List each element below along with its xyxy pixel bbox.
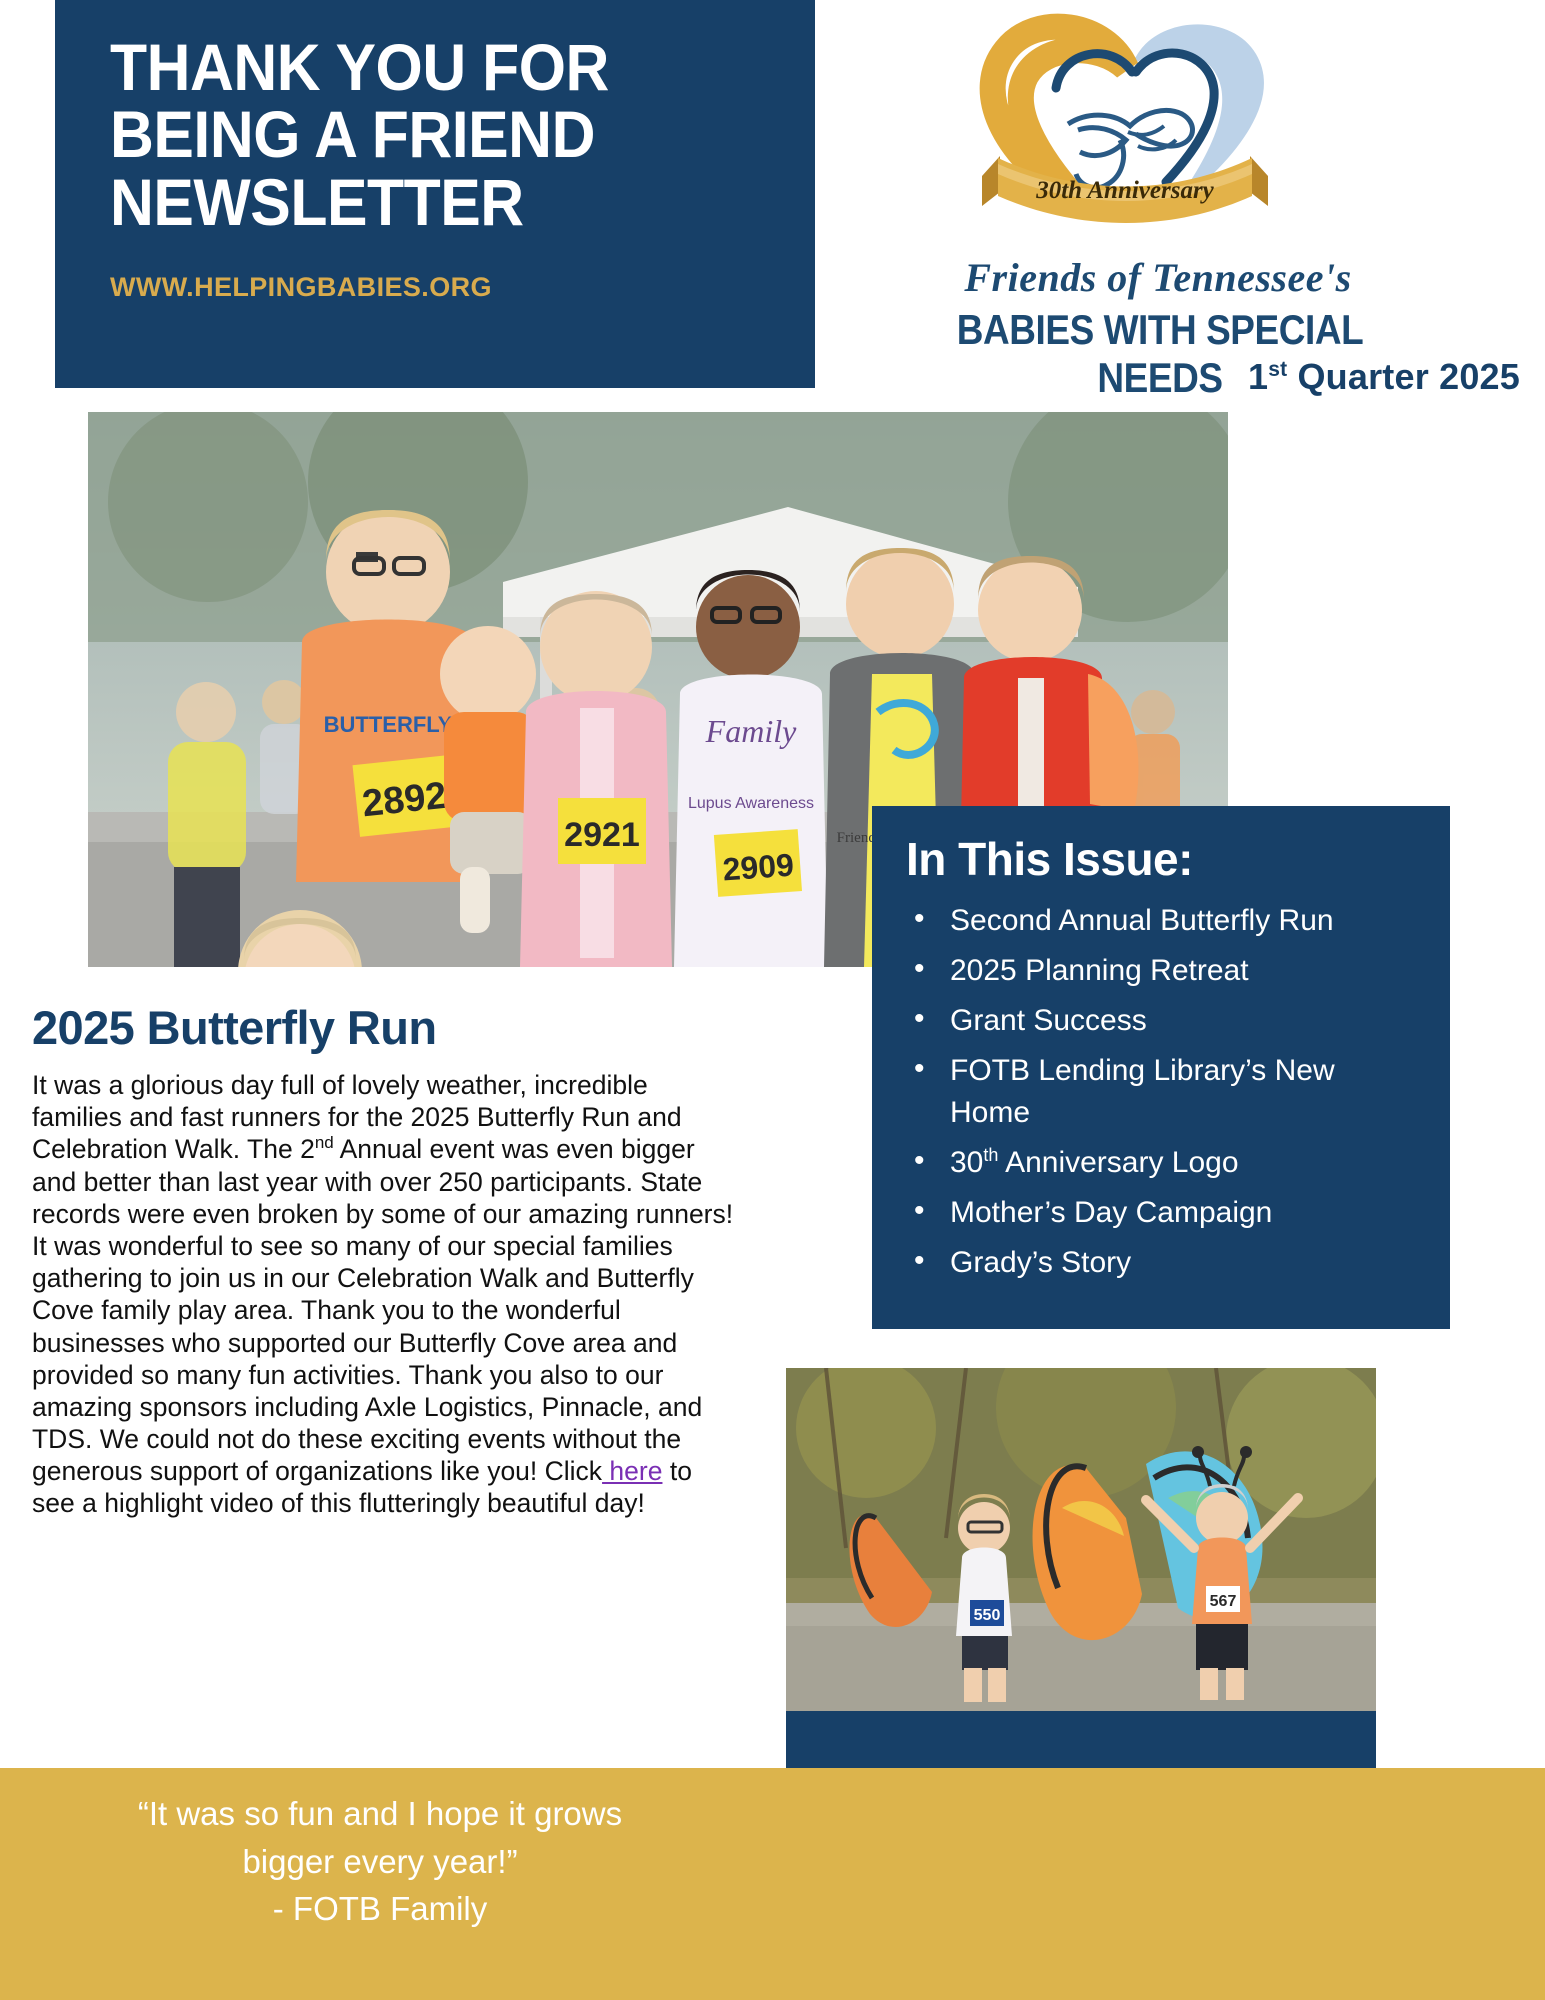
in-this-issue-title: In This Issue:	[906, 832, 1416, 886]
list-item[interactable]: Second Annual Butterfly Run	[906, 900, 1416, 942]
testimonial-quote: “It was so fun and I hope it grows bigge…	[30, 1790, 730, 1933]
quote-line-2: bigger every year!”	[30, 1838, 730, 1886]
issue-item-label: Grady’s Story	[950, 1246, 1131, 1279]
quote-attribution: - FOTB Family	[30, 1885, 730, 1933]
in-this-issue-panel: In This Issue: Second Annual Butterfly R…	[872, 806, 1450, 1329]
list-item[interactable]: 30th Anniversary Logo	[906, 1142, 1416, 1184]
issue-ordinal: st	[1268, 358, 1287, 381]
list-item[interactable]: FOTB Lending Library’s New Home	[906, 1050, 1416, 1134]
masthead-header: THANK YOU FOR BEING A FRIEND NEWSLETTER …	[55, 0, 815, 388]
page-title: THANK YOU FOR BEING A FRIEND NEWSLETTER	[110, 34, 759, 236]
article-heading: 2025 Butterfly Run	[32, 1000, 742, 1055]
issue-item-label: 30	[950, 1146, 983, 1179]
bib-number: 567	[1210, 1593, 1237, 1610]
issue-item-label: 2025 Planning Retreat	[950, 954, 1249, 987]
website-url[interactable]: WWW.HELPINGBABIES.ORG	[110, 272, 815, 303]
article-body: It was a glorious day full of lovely wea…	[32, 1069, 742, 1520]
issue-item-label: FOTB Lending Library’s New Home	[950, 1054, 1335, 1129]
heart-hands-logo-icon: 30th Anniversary	[960, 6, 1290, 256]
issue-item-label: Mother’s Day Campaign	[950, 1196, 1272, 1229]
article-butterfly-run: 2025 Butterfly Run It was a glorious day…	[32, 1000, 742, 1520]
issue-item-ordinal: th	[983, 1145, 998, 1165]
issue-item-label-tail: Anniversary Logo	[998, 1146, 1238, 1179]
in-this-issue-list: Second Annual Butterfly Run 2025 Plannin…	[906, 900, 1416, 1284]
bib-number: 2909	[721, 847, 795, 888]
bib-number: 2892	[360, 775, 448, 826]
title-line-1: THANK YOU FOR	[110, 34, 759, 101]
secondary-photo-butterfly-wings: 550 567	[786, 1368, 1376, 1711]
list-item[interactable]: Mother’s Day Campaign	[906, 1192, 1416, 1234]
issue-period: Quarter 2025	[1297, 356, 1520, 397]
title-line-2: BEING A FRIEND	[110, 101, 759, 168]
list-item[interactable]: 2025 Planning Retreat	[906, 950, 1416, 992]
issue-quarter-label: 1st Quarter 2025	[1248, 356, 1520, 398]
issue-item-label: Second Annual Butterfly Run	[950, 904, 1334, 937]
issue-number: 1	[1248, 356, 1268, 397]
bib-number: 2921	[564, 816, 640, 854]
quote-line-1: “It was so fun and I hope it grows	[30, 1790, 730, 1838]
title-line-3: NEWSLETTER	[110, 169, 759, 236]
list-item[interactable]: Grant Success	[906, 1000, 1416, 1042]
article-ordinal: nd	[315, 1134, 334, 1153]
anniversary-ribbon-text: 30th Anniversary	[1035, 177, 1214, 204]
svg-text:Family: Family	[705, 713, 797, 749]
org-name-script: Friends of Tennessee's	[908, 254, 1408, 301]
article-para-2: Annual event was even bigger and better …	[32, 1134, 733, 1486]
svg-text:BUTTERFLY: BUTTERFLY	[324, 712, 453, 737]
bib-number: 550	[974, 1607, 1001, 1624]
highlight-video-link[interactable]: here	[602, 1456, 662, 1486]
svg-text:Lupus Awareness: Lupus Awareness	[688, 795, 814, 812]
issue-item-label: Grant Success	[950, 1004, 1147, 1037]
list-item[interactable]: Grady’s Story	[906, 1242, 1416, 1284]
testimonial-band: “It was so fun and I hope it grows bigge…	[0, 1768, 1545, 2000]
organization-logo: 30th Anniversary Friends of Tennessee's …	[860, 6, 1520, 396]
